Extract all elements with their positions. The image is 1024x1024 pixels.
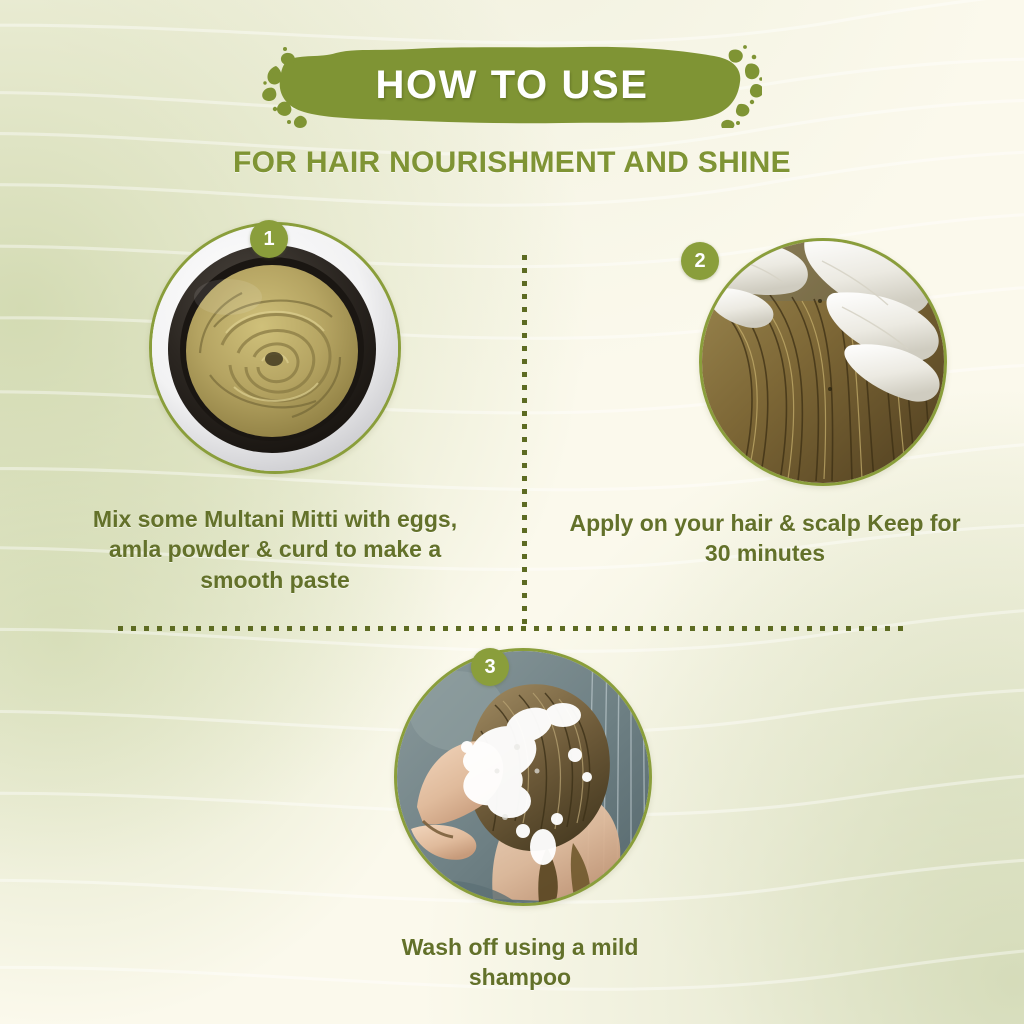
- step-1-caption: Mix some Multani Mitti with eggs, amla p…: [55, 504, 495, 595]
- gloved-hands-on-hair-illustration: [702, 241, 944, 483]
- header: HOW TO USE FOR HAIR NOURISHMENT AND SHIN…: [0, 0, 1024, 180]
- step-1-number: 1: [263, 228, 274, 251]
- step-1: 1: [55, 222, 495, 595]
- step-1-badge: 1: [250, 220, 288, 258]
- step-2-number: 2: [694, 250, 705, 273]
- step-2: 2: [555, 238, 975, 569]
- washing-hair-illustration: [397, 651, 649, 903]
- title-banner: HOW TO USE: [262, 42, 762, 128]
- step-3-caption: Wash off using a mild shampoo: [310, 932, 730, 993]
- step-3-photo: [394, 648, 652, 906]
- step-2-image-wrap: 2: [641, 238, 889, 486]
- step-2-badge: 2: [681, 242, 719, 280]
- step-3: 3: [310, 648, 730, 993]
- step-3-badge: 3: [471, 648, 509, 686]
- step-2-photo: [699, 238, 947, 486]
- how-to-use-infographic: HOW TO USE FOR HAIR NOURISHMENT AND SHIN…: [0, 0, 1024, 1024]
- horizontal-dashed-divider: [118, 626, 908, 631]
- bowl-of-paste-illustration: [152, 225, 398, 471]
- page-subtitle: FOR HAIR NOURISHMENT AND SHINE: [0, 146, 1024, 180]
- step-3-number: 3: [484, 656, 495, 679]
- step-1-photo: [149, 222, 401, 474]
- page-title: HOW TO USE: [262, 42, 762, 128]
- step-2-caption: Apply on your hair & scalp Keep for 30 m…: [555, 508, 975, 569]
- step-3-image-wrap: 3: [391, 648, 649, 906]
- step-1-image-wrap: 1: [149, 222, 401, 474]
- vertical-dashed-divider: [522, 255, 527, 627]
